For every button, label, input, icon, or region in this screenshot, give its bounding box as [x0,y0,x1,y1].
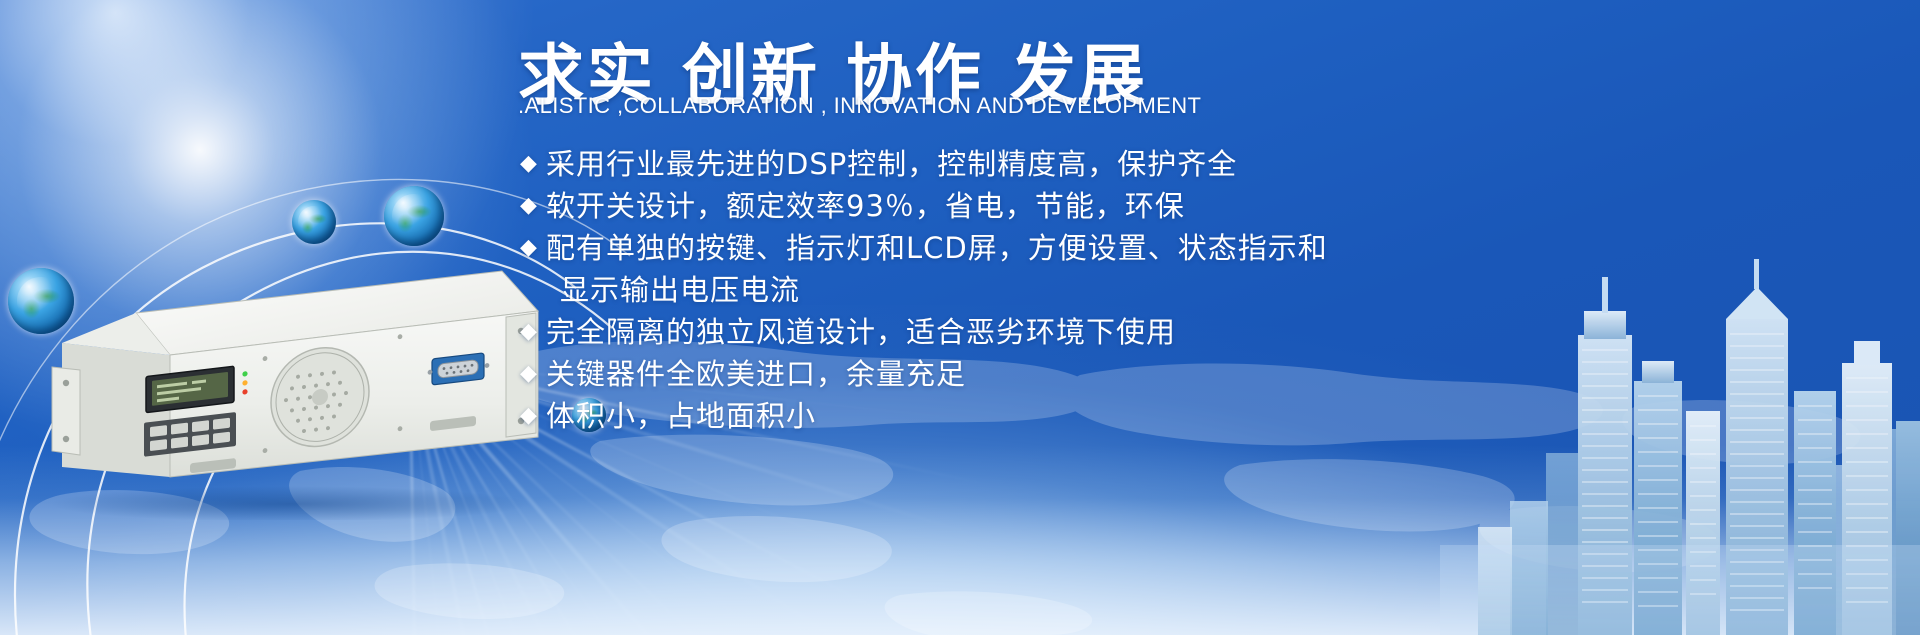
diamond-bullet-icon: ◆ [520,395,546,437]
feature-list-item-label: 关键器件全欧美进口，余量充足 [546,353,966,395]
feature-list-item-label: 显示输出电压电流 [546,269,800,311]
feature-list-item: ◆配有单独的按键、指示灯和LCD屏，方便设置、状态指示和 [520,227,1480,269]
diamond-bullet-icon: ◆ [520,227,546,269]
feature-list-item-label: 完全隔离的独立风道设计，适合恶劣环境下使用 [546,311,1176,353]
feature-list-item: ◆显示输出电压电流 [520,269,1480,311]
diamond-bullet-icon: ◆ [520,143,546,185]
page-subtitle: .ALISTIC ,COLLABORATION , INNOVATION AND… [518,93,1201,119]
feature-list-item: ◆体积小，占地面积小 [520,395,1480,437]
feature-list-item: ◆关键器件全欧美进口，余量充足 [520,353,1480,395]
diamond-bullet-icon: ◆ [520,185,546,227]
feature-list: ◆采用行业最先进的DSP控制，控制精度高，保护齐全◆软开关设计，额定效率93％，… [520,143,1480,437]
feature-list-item: ◆采用行业最先进的DSP控制，控制精度高，保护齐全 [520,143,1480,185]
diamond-bullet-icon: ◆ [520,311,546,353]
feature-list-item: ◆完全隔离的独立风道设计，适合恶劣环境下使用 [520,311,1480,353]
feature-list-item-label: 采用行业最先进的DSP控制，控制精度高，保护齐全 [546,143,1237,185]
feature-list-item-label: 体积小，占地面积小 [546,395,816,437]
marketing-banner: 求实 创新 协作 发展 .ALISTIC ,COLLABORATION , IN… [0,0,1920,635]
feature-list-item-label: 软开关设计，额定效率93％，省电，节能，环保 [546,185,1185,227]
diamond-bullet-icon: ◆ [520,353,546,395]
feature-list-item-label: 配有单独的按键、指示灯和LCD屏，方便设置、状态指示和 [546,227,1328,269]
banner-text-content: 求实 创新 协作 发展 .ALISTIC ,COLLABORATION , IN… [0,0,1920,635]
feature-list-item: ◆软开关设计，额定效率93％，省电，节能，环保 [520,185,1480,227]
